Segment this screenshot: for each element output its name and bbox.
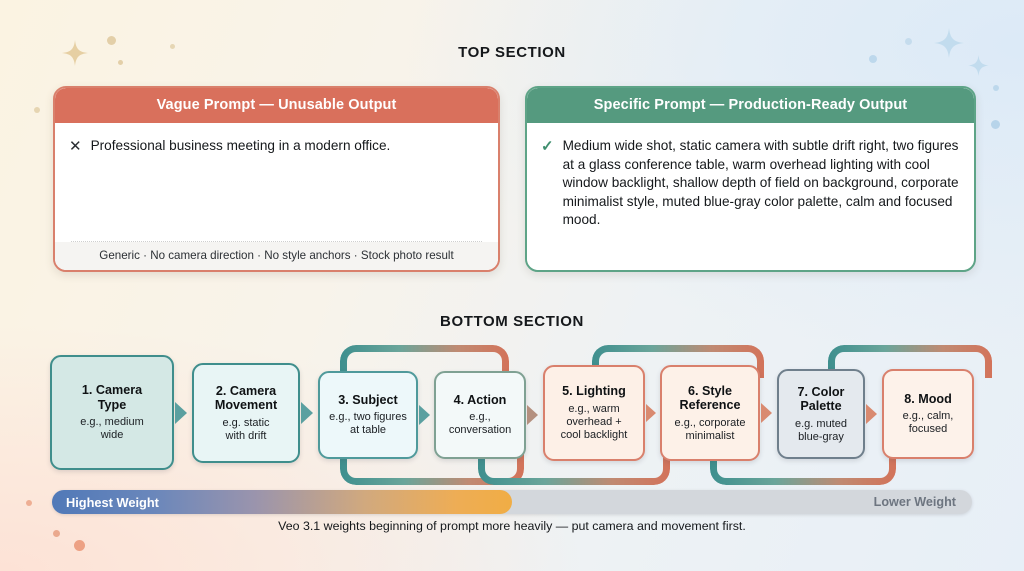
specific-prompt-text: Medium wide shot, static camera with sub…: [563, 137, 959, 230]
check-icon: ✓: [541, 137, 554, 157]
vague-prompt-card: Vague Prompt — Unusable Output ✕ Profess…: [53, 86, 500, 272]
chain-step-title: 4. Action: [454, 393, 507, 408]
specific-prompt-card-body: ✓ Medium wide shot, static camera with s…: [527, 123, 974, 270]
chain-step-2[interactable]: 2. CameraMovemente.g. staticwith drift: [192, 363, 300, 463]
decor-dot: [26, 500, 32, 506]
chain-step-example: e.g., corporateminimalist: [675, 417, 746, 443]
specific-prompt-card: Specific Prompt — Production-Ready Outpu…: [525, 86, 976, 272]
weight-bar-left-label: Highest Weight: [66, 490, 159, 514]
top-section-title: TOP SECTION: [0, 44, 1024, 61]
weight-bar-right-label: Lower Weight: [874, 490, 956, 514]
decor-dot: [34, 107, 40, 113]
chain-step-title: 5. Lighting: [562, 384, 626, 399]
chain-step-6[interactable]: 6. StyleReferencee.g., corporateminimali…: [660, 365, 760, 461]
chain-arrow-7: [866, 404, 877, 424]
chain-step-example: e.g. staticwith drift: [222, 417, 269, 443]
chain-arrow-6: [761, 403, 772, 423]
vague-prompt-card-inner: Vague Prompt — Unusable Output ✕ Profess…: [55, 88, 498, 270]
chain-step-title: 3. Subject: [338, 393, 398, 408]
infographic-canvas: TOP SECTION BOTTOM SECTION Vague Prompt …: [0, 0, 1024, 571]
chain-step-example: e.g.,conversation: [449, 411, 511, 437]
chain-arrow-4: [527, 405, 538, 425]
chain-arrow-5: [646, 404, 656, 422]
chain-step-5[interactable]: 5. Lightinge.g., warmoverhead +cool back…: [543, 365, 645, 461]
decor-dot: [993, 85, 999, 91]
chain-step-title: 1. CameraType: [82, 383, 142, 412]
chain-step-title: 2. CameraMovement: [215, 384, 277, 413]
chain-step-title: 6. StyleReference: [680, 384, 741, 413]
chain-step-3[interactable]: 3. Subjecte.g., two figuresat table: [318, 371, 418, 459]
chain-step-example: e.g., warmoverhead +cool backlight: [561, 403, 628, 442]
chain-step-4[interactable]: 4. Actione.g.,conversation: [434, 371, 526, 459]
vague-prompt-text: Professional business meeting in a moder…: [91, 137, 391, 156]
bottom-section-title: BOTTOM SECTION: [0, 313, 1024, 330]
vague-prompt-card-body: ✕ Professional business meeting in a mod…: [55, 123, 498, 237]
vague-prompt-card-header: Vague Prompt — Unusable Output: [55, 88, 498, 123]
chain-step-example: e.g. mutedblue-gray: [795, 418, 847, 444]
chain-arrow-3: [419, 405, 430, 425]
chain-step-7[interactable]: 7. ColorPalettee.g. mutedblue-gray: [777, 369, 865, 459]
chain-step-example: e.g., mediumwide: [80, 416, 144, 442]
weight-bar: Highest Weight Lower Weight: [52, 490, 972, 514]
chain-step-1[interactable]: 1. CameraTypee.g., mediumwide: [50, 355, 174, 470]
chain-step-example: e.g., two figuresat table: [329, 411, 407, 437]
chain-step-title: 8. Mood: [904, 392, 952, 407]
decor-dot: [991, 120, 1000, 129]
chain-arrow-1: [175, 402, 187, 424]
chain-step-8[interactable]: 8. Moode.g., calm,focused: [882, 369, 974, 459]
decor-dot: [74, 540, 85, 551]
specific-prompt-card-inner: Specific Prompt — Production-Ready Outpu…: [527, 88, 974, 270]
specific-prompt-card-header: Specific Prompt — Production-Ready Outpu…: [527, 88, 974, 123]
weight-bar-caption: Veo 3.1 weights beginning of prompt more…: [0, 519, 1024, 533]
chain-arrow-2: [301, 402, 313, 424]
chain-step-example: e.g., calm,focused: [903, 410, 954, 436]
chain-step-title: 7. ColorPalette: [798, 385, 845, 414]
cross-icon: ✕: [69, 137, 82, 157]
prompt-order-chain: 1. CameraTypee.g., mediumwide2. CameraMo…: [0, 340, 1024, 485]
vague-prompt-footer: Generic · No camera direction · No style…: [55, 242, 498, 270]
